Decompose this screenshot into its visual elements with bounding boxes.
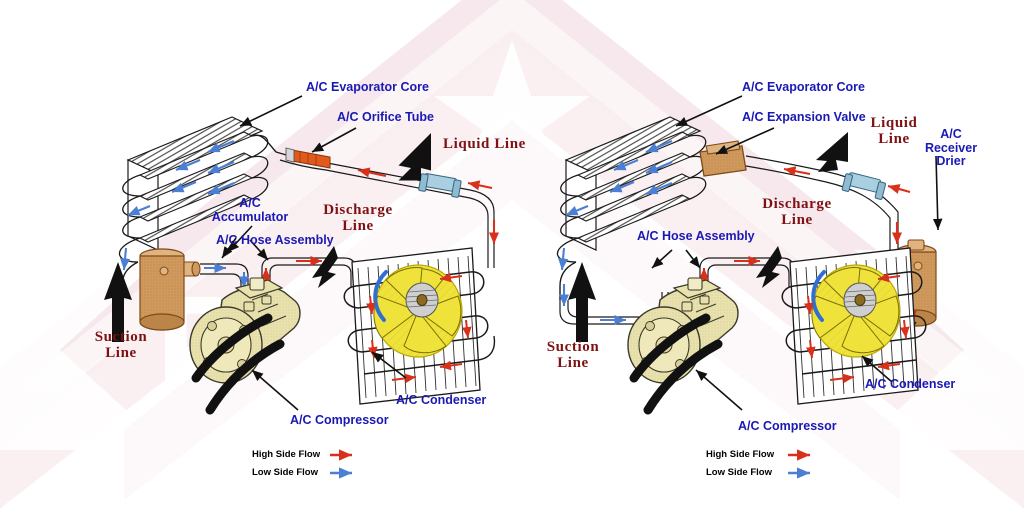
legend-right-low-side: Low Side Flow (706, 467, 772, 478)
label-right-suction-line: Suction Line (530, 339, 616, 371)
label-right-condenser: A/C Condenser (865, 378, 955, 392)
label-right-hose-assembly: A/C Hose Assembly (637, 230, 755, 244)
legend-right-high-side: High Side Flow (706, 449, 774, 460)
label-left-evaporator-core: A/C Evaporator Core (306, 81, 429, 95)
left-line-fitting (418, 173, 461, 197)
label-left-liquid-line: Liquid Line (443, 136, 526, 152)
legend-left-low-side: Low Side Flow (252, 467, 318, 478)
label-left-discharge-line: Discharge Line (303, 202, 413, 234)
legend-left-high-side: High Side Flow (252, 449, 320, 460)
label-left-hose-assembly: A/C Hose Assembly (216, 234, 334, 248)
diagram-artwork (0, 0, 1024, 526)
ac-system-diagram: PARTS (0, 0, 1024, 526)
label-left-condenser: A/C Condenser (396, 394, 486, 408)
label-left-suction-line: Suction Line (78, 329, 164, 361)
right-compressor (628, 278, 738, 410)
label-right-expansion-valve: A/C Expansion Valve (742, 111, 866, 125)
label-right-evaporator-core: A/C Evaporator Core (742, 81, 865, 95)
right-expansion-valve (700, 141, 746, 176)
label-left-compressor: A/C Compressor (290, 414, 389, 428)
label-right-receiver-drier: A/C Receiver Drier (918, 128, 984, 169)
label-right-discharge-line: Discharge Line (742, 196, 852, 228)
left-condenser (344, 248, 494, 404)
left-compressor (190, 278, 300, 410)
label-left-accumulator: A/C Accumulator (200, 197, 300, 224)
label-left-orifice-tube: A/C Orifice Tube (337, 111, 434, 125)
left-orifice-tube (286, 148, 330, 168)
left-accumulator (140, 249, 200, 330)
label-right-compressor: A/C Compressor (738, 420, 837, 434)
left-system-artwork (119, 117, 494, 410)
label-right-liquid-line: Liquid Line (862, 115, 926, 147)
